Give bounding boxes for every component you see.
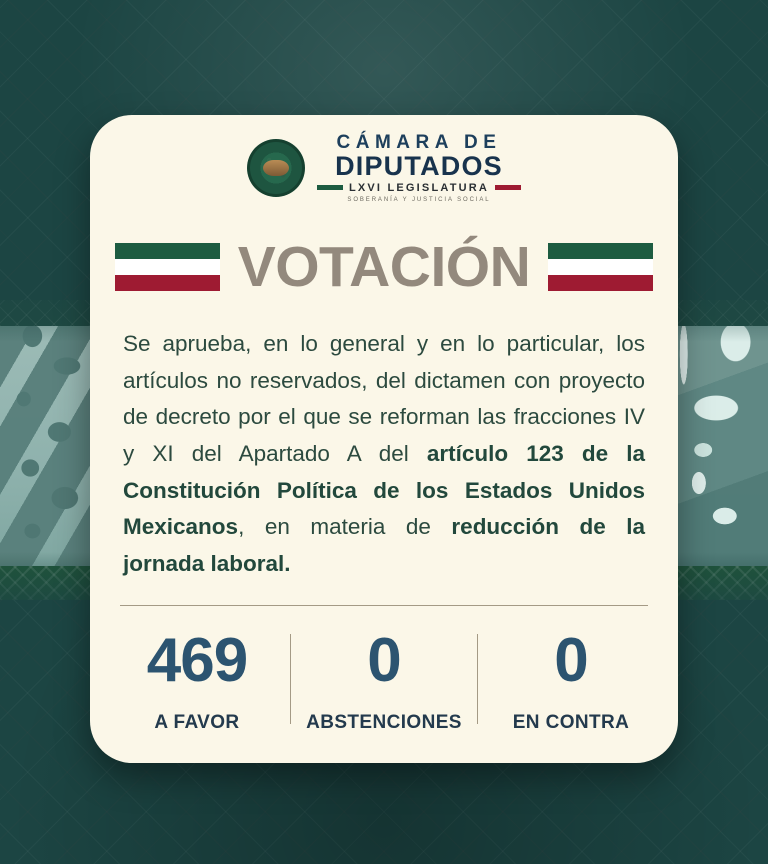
chamber-logo: CÁMARA DE DIPUTADOS LXVI LEGISLATURA SOB… — [90, 133, 678, 203]
flag-stripes-right — [548, 243, 653, 291]
motion-description: Se aprueba, en lo general y en lo partic… — [123, 326, 645, 583]
logo-legislature-row: LXVI LEGISLATURA — [317, 182, 521, 194]
chamber-logo-text: CÁMARA DE DIPUTADOS LXVI LEGISLATURA SOB… — [317, 133, 521, 203]
vote-results: 469 A FAVOR 0 ABSTENCIONES 0 EN CONTRA — [90, 630, 678, 734]
flag-stripe-green — [548, 243, 653, 259]
result-value: 0 — [367, 630, 400, 692]
poster-canvas: CÁMARA DE DIPUTADOS LXVI LEGISLATURA SOB… — [0, 0, 768, 864]
result-abstenciones: 0 ABSTENCIONES — [291, 630, 477, 734]
logo-flag-bar-green — [317, 185, 343, 190]
page-title: VOTACIÓN — [238, 239, 531, 296]
flag-stripe-green — [115, 243, 220, 259]
vote-result-card: CÁMARA DE DIPUTADOS LXVI LEGISLATURA SOB… — [90, 115, 678, 763]
results-divider — [120, 605, 648, 606]
title-row: VOTACIÓN — [90, 239, 678, 296]
flag-stripe-white — [548, 259, 653, 275]
mexican-eagle-seal-icon — [247, 139, 305, 197]
result-label: ABSTENCIONES — [306, 712, 462, 734]
result-label: EN CONTRA — [513, 712, 630, 734]
flag-stripe-red — [548, 275, 653, 291]
result-a-favor: 469 A FAVOR — [104, 630, 290, 734]
result-label: A FAVOR — [154, 712, 239, 734]
motion-text-part-2: , en materia de — [238, 514, 451, 539]
logo-tagline: SOBERANÍA Y JUSTICIA SOCIAL — [347, 197, 490, 203]
flag-stripes-left — [115, 243, 220, 291]
logo-line-camara: CÁMARA DE — [337, 133, 502, 153]
flag-stripe-red — [115, 275, 220, 291]
logo-legislature-label: LXVI LEGISLATURA — [349, 182, 489, 194]
logo-line-diputados: DIPUTADOS — [335, 153, 503, 180]
result-value: 469 — [147, 630, 247, 692]
flag-stripe-white — [115, 259, 220, 275]
result-value: 0 — [554, 630, 587, 692]
result-en-contra: 0 EN CONTRA — [478, 630, 664, 734]
logo-flag-bar-red — [495, 185, 521, 190]
